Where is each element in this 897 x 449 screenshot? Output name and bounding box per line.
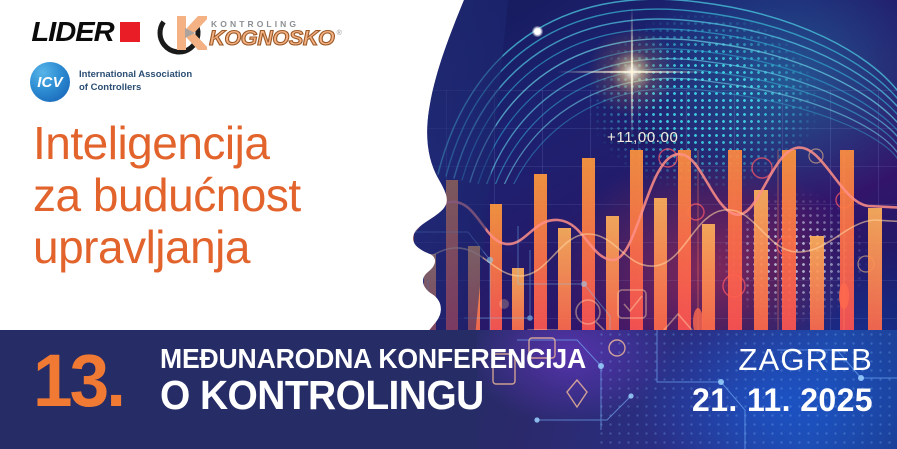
headline-line-3: upravljanja <box>33 222 403 274</box>
registered-mark-icon: ® <box>337 30 342 37</box>
lens-flare-starburst-icon <box>584 24 680 120</box>
lider-logo: LIDER <box>33 18 140 46</box>
icv-monogram: ICV <box>37 74 63 91</box>
edition-number: 13. <box>33 344 123 418</box>
icv-logo: ICV International Association of Control… <box>30 62 192 102</box>
headline: Inteligencija za budućnost upravljanja <box>33 118 403 274</box>
kognosko-main-line: KOGNOSKO <box>209 28 334 50</box>
value-label: +11,00.00 <box>607 129 678 146</box>
icv-line-2: of Controllers <box>79 82 192 95</box>
red-square-icon <box>120 22 140 42</box>
headline-line-1: Inteligencija <box>33 118 403 170</box>
conference-poster: LIDER KONTROLING KOGNOSKO ® ICV <box>0 0 897 449</box>
conference-title: MEĐUNARODNA KONFERENCIJA O KONTROLINGU <box>160 345 608 416</box>
kognosko-logo: KONTROLING KOGNOSKO ® <box>155 8 342 58</box>
headline-line-2: za budućnost <box>33 170 403 222</box>
city-label: ZAGREB <box>673 342 873 378</box>
conference-title-line-1: MEĐUNARODNA KONFERENCIJA <box>160 345 586 374</box>
kognosko-c-k-mark-icon <box>155 8 207 58</box>
logo-row: LIDER KONTROLING KOGNOSKO ® ICV <box>0 0 420 110</box>
conference-title-line-2: O KONTROLINGU <box>160 375 586 417</box>
icv-circle-icon: ICV <box>30 62 70 102</box>
lider-logo-text: LIDER <box>31 18 113 46</box>
date-label: 21. 11. 2025 <box>643 382 873 419</box>
icv-line-1: International Association <box>79 69 192 82</box>
